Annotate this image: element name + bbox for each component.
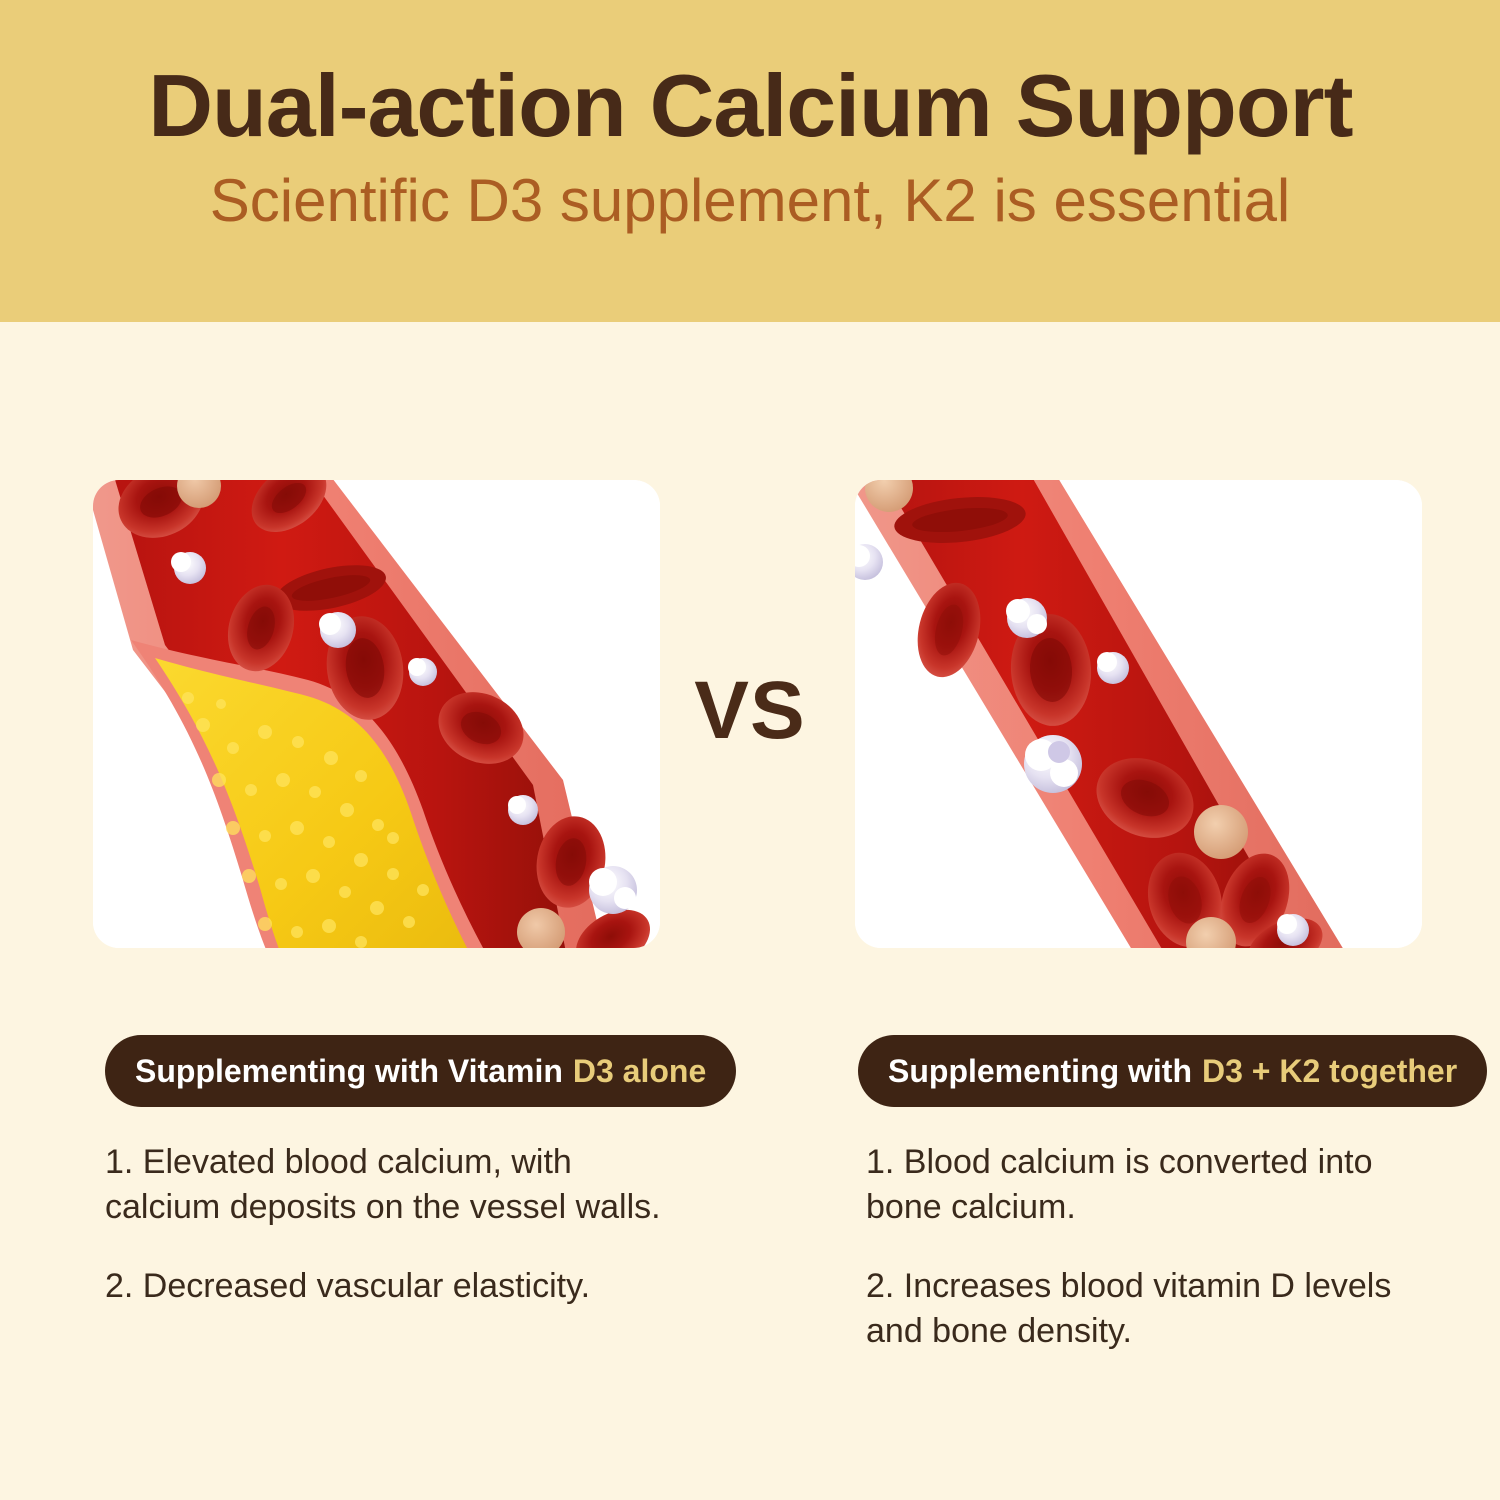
bullet-list-right: 1. Blood calcium is converted into bone …	[866, 1140, 1451, 1354]
comparison-section: VS	[0, 322, 1500, 1500]
healthy-vessel-illustration	[855, 480, 1422, 948]
list-item: 2. Decreased vascular elasticity.	[105, 1264, 665, 1309]
page-title: Dual-action Calcium Support	[148, 60, 1352, 152]
page-subtitle: Scientific D3 supplement, K2 is essentia…	[210, 168, 1291, 234]
list-item: 2. Increases blood vitamin D levels and …	[866, 1264, 1451, 1354]
pill-prefix-right: Supplementing with	[888, 1053, 1192, 1090]
bullet-list-left: 1. Elevated blood calcium, with calcium …	[105, 1140, 665, 1309]
list-item: 1. Blood calcium is converted into bone …	[866, 1140, 1451, 1230]
vessel-image-panel-right	[855, 480, 1422, 948]
list-item: 1. Elevated blood calcium, with calcium …	[105, 1140, 665, 1230]
pill-prefix-left: Supplementing with Vitamin	[135, 1053, 563, 1090]
label-pill-d3-k2: Supplementing with D3 + K2 together	[858, 1035, 1487, 1107]
pill-accent-left: D3 alone	[573, 1053, 706, 1090]
header-band: Dual-action Calcium Support Scientific D…	[0, 0, 1500, 322]
label-pill-d3-alone: Supplementing with Vitamin D3 alone	[105, 1035, 736, 1107]
pill-accent-right: D3 + K2 together	[1202, 1053, 1457, 1090]
